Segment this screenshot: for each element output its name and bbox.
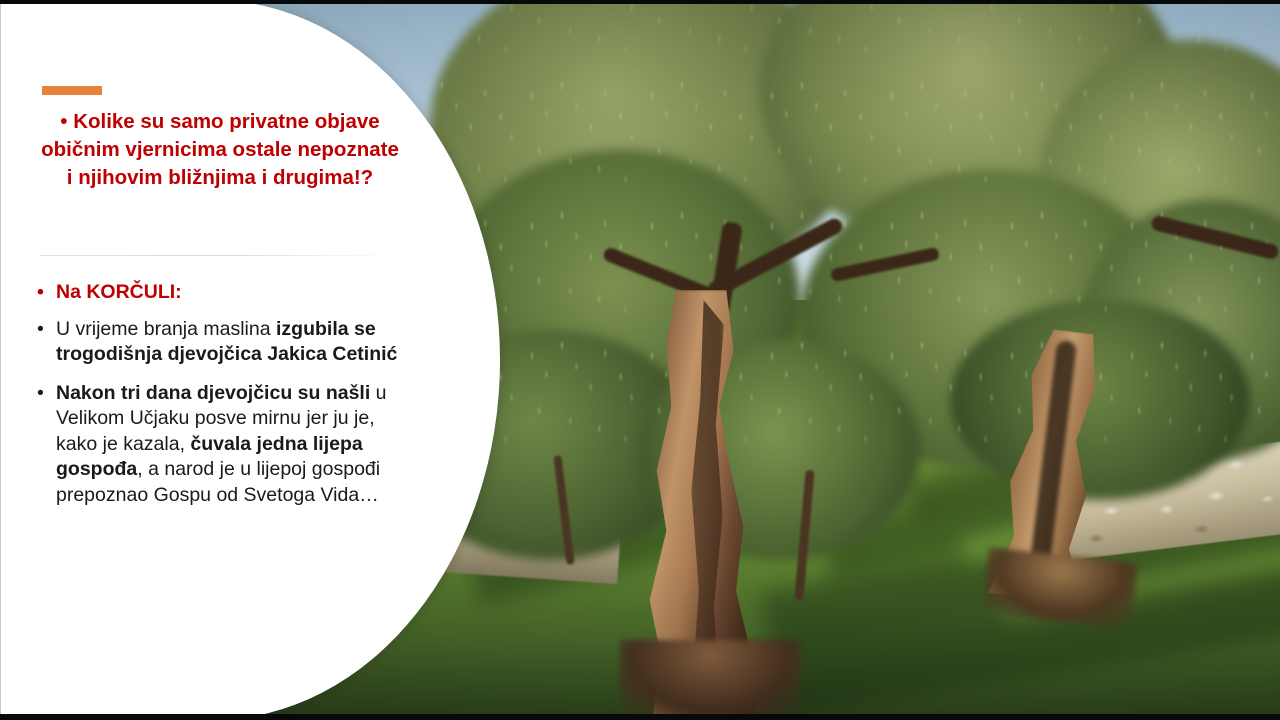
list-item-text-bold: Nakon tri dana djevojčicu su našli	[56, 382, 370, 404]
bullet-marker: •	[37, 280, 44, 306]
list-item-label: Na KORČULI:	[56, 281, 182, 303]
slide-text-content: • Kolike su samo privatne objave običnim…	[0, 0, 420, 720]
bullet-marker: •	[37, 381, 44, 407]
list-item: • Nakon tri dana djevojčicu su našli u V…	[34, 381, 414, 509]
title-line-1: Kolike su samo privatne	[73, 110, 309, 133]
list-item-text-regular: U vrijeme branja maslina	[56, 318, 276, 340]
list-item: • U vrijeme branja maslina izgubila se t…	[34, 317, 414, 368]
horizontal-divider	[40, 255, 395, 256]
title-line-4: bližnjima i drugima!?	[168, 166, 373, 189]
presentation-slide: • Kolike su samo privatne objave običnim…	[0, 0, 1280, 720]
letterbox-bottom	[0, 714, 1280, 720]
letterbox-top	[0, 0, 1280, 4]
orange-accent-bar	[42, 86, 102, 95]
list-item: • Na KORČULI:	[34, 280, 414, 306]
bullet-marker: •	[37, 317, 44, 343]
bullet-list: • Na KORČULI: • U vrijeme branja maslina…	[34, 280, 414, 517]
slide-title: • Kolike su samo privatne objave običnim…	[40, 108, 400, 192]
title-bullet: •	[60, 110, 67, 133]
